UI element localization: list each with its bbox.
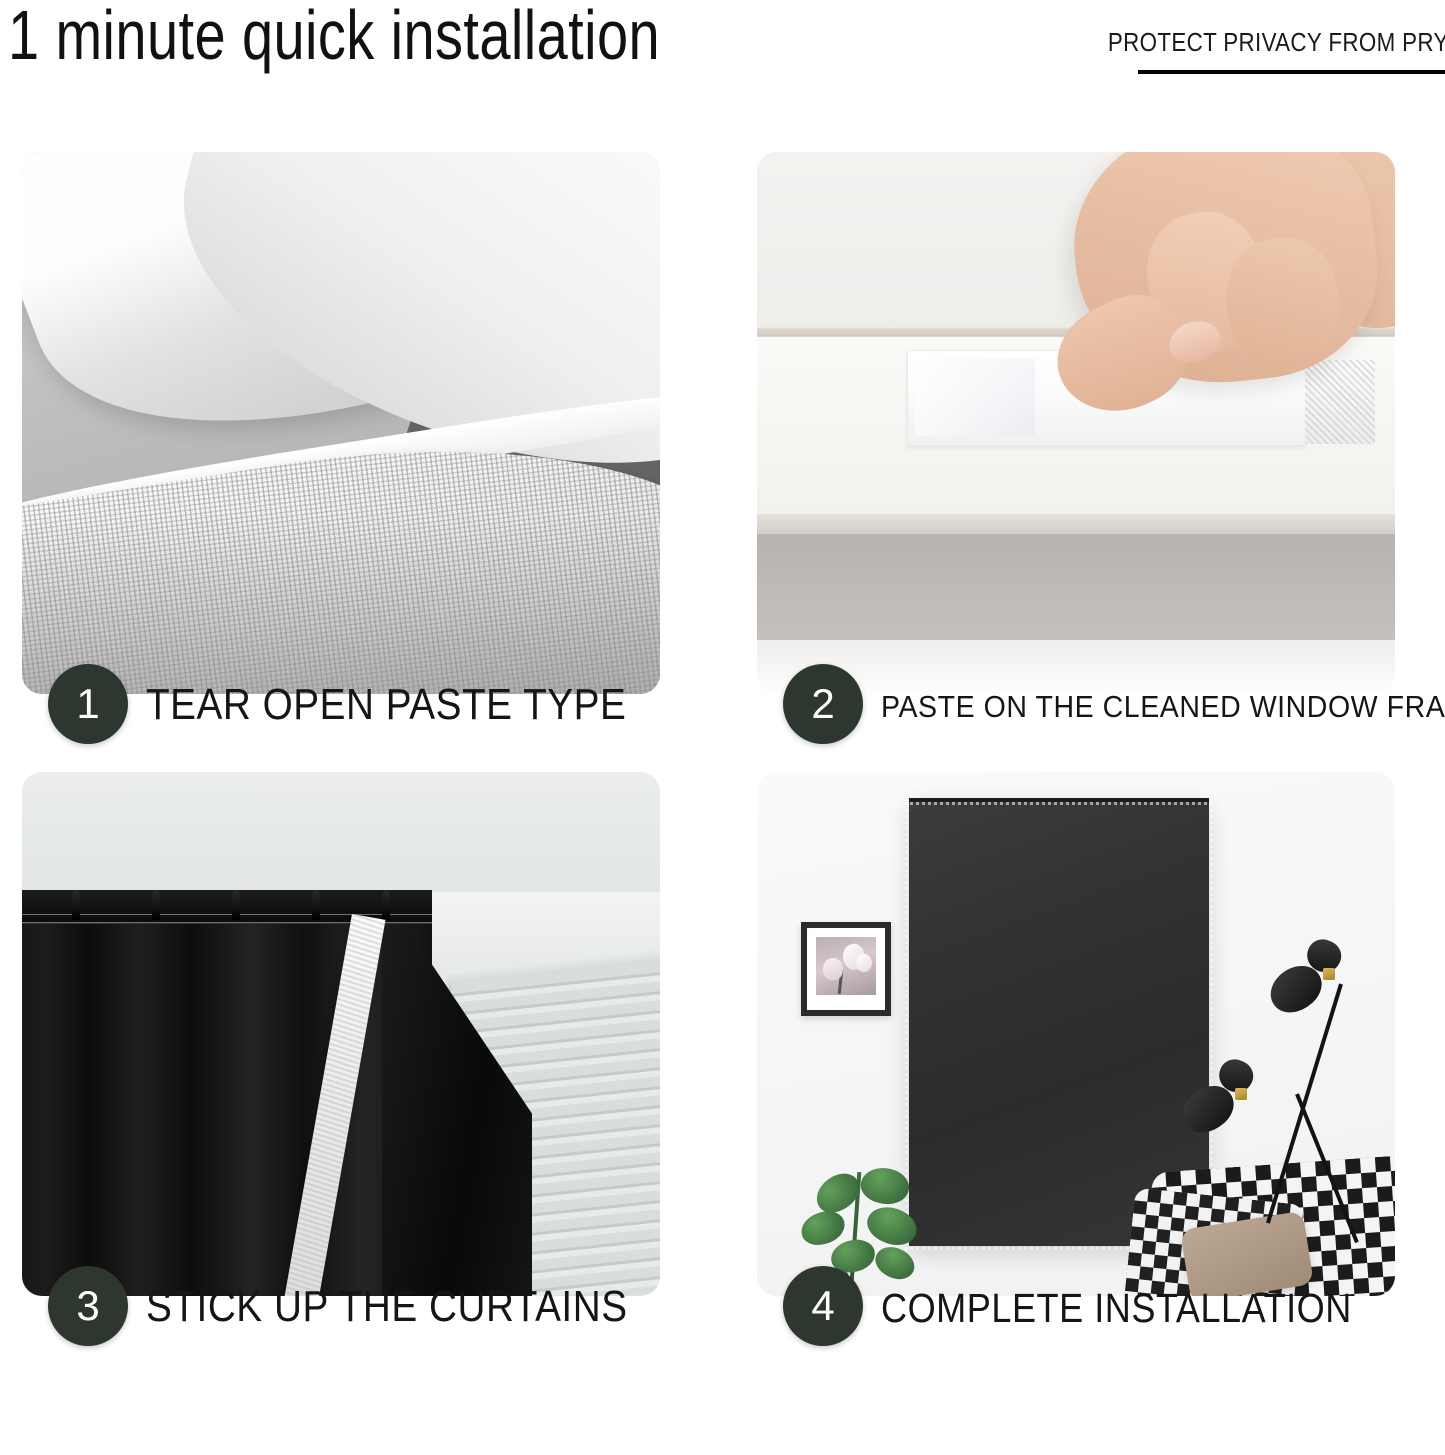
- step-badge-3: 3: [48, 1266, 128, 1346]
- photo3-pleat: [72, 890, 80, 920]
- step-label-3: STICK UP THE CURTAINS: [146, 1284, 628, 1330]
- photo2-sill-ledge: [757, 514, 1395, 536]
- photo3-pleat: [152, 890, 160, 920]
- step-photo-3: [22, 772, 660, 1296]
- step-badge-4: 4: [783, 1266, 863, 1346]
- photo2-wall-lower: [757, 534, 1395, 642]
- step-label-4: COMPLETE INSTALLATION: [881, 1286, 1352, 1330]
- steps-grid: 1 TEAR OPEN PASTE TYPE: [0, 0, 1445, 1455]
- step-label-2: PASTE ON THE CLEANED WINDOW FRAME: [881, 690, 1445, 724]
- step-card-1: 1 TEAR OPEN PASTE TYPE: [22, 152, 660, 694]
- step-label-1: TEAR OPEN PASTE TYPE: [146, 682, 626, 728]
- step-card-2: 2 PASTE ON THE CLEANED WINDOW FRAME: [757, 152, 1395, 694]
- step-badge-2: 2: [783, 664, 863, 744]
- photo4-tulip-bloom: [856, 954, 872, 972]
- step-photo-4: [757, 772, 1395, 1296]
- step-photo-1: [22, 152, 660, 694]
- photo3-pleat: [232, 890, 240, 920]
- infographic-page: 1 minute quick installation PROTECT PRIV…: [0, 0, 1445, 1455]
- step-card-4: 4 COMPLETE INSTALLATION: [757, 772, 1395, 1296]
- step-badge-1: 1: [48, 664, 128, 744]
- photo2-velcro-patch: [1305, 360, 1375, 444]
- photo3-stitch-line-top: [22, 914, 432, 915]
- photo1-shadow: [22, 514, 660, 694]
- photo2-tape-gloss: [915, 358, 1035, 436]
- photo3-pleat: [312, 890, 320, 920]
- photo3-pleat: [382, 890, 390, 920]
- step-card-3: 3 STICK UP THE CURTAINS: [22, 772, 660, 1296]
- photo3-ceiling: [22, 772, 660, 900]
- step-photo-2: [757, 152, 1395, 694]
- photo4-lamp-brass-joint: [1323, 968, 1335, 980]
- photo4-lamp-brass-joint: [1235, 1088, 1247, 1100]
